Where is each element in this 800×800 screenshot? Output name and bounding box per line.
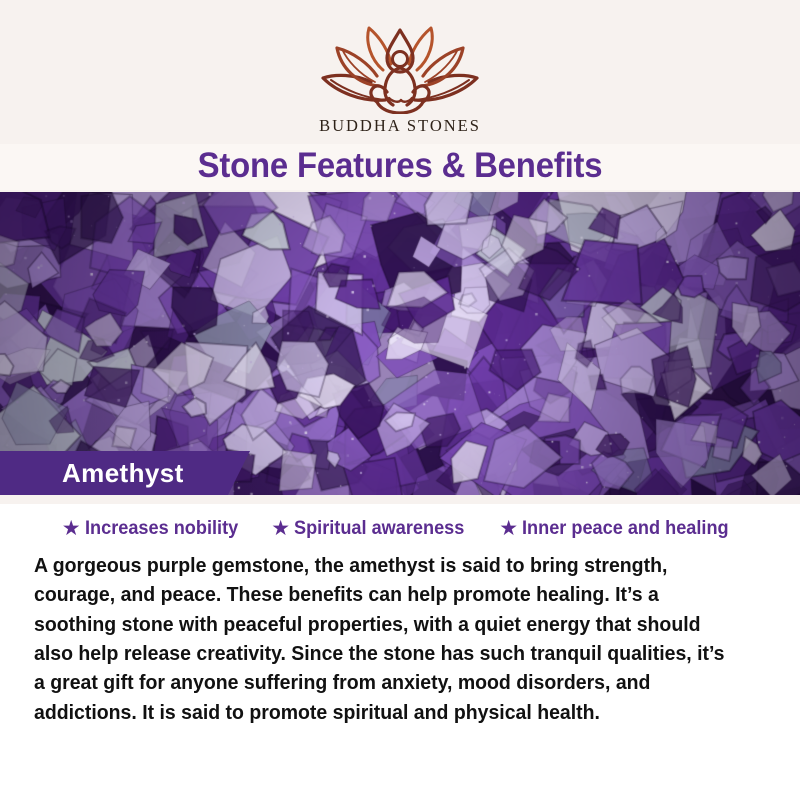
stone-benefits-poster: BUDDHA STONES Stone Features & Benefits …	[0, 0, 800, 800]
poster-header: BUDDHA STONES Stone Features & Benefits	[0, 0, 800, 192]
title-strip: Stone Features & Benefits	[0, 144, 800, 190]
hero-image: Amethyst	[0, 192, 800, 495]
feature-item-spiritual-awareness: ★ Spiritual awareness	[271, 517, 477, 540]
star-icon: ★	[271, 518, 290, 539]
amethyst-crystal-cluster-image	[0, 192, 800, 495]
page-title: Stone Features & Benefits	[24, 144, 776, 190]
star-icon: ★	[62, 518, 81, 539]
feature-label: Spiritual awareness	[294, 517, 464, 540]
star-icon: ★	[499, 518, 518, 539]
brand-name: BUDDHA STONES	[315, 116, 485, 136]
stone-name-ribbon: Amethyst	[0, 451, 250, 495]
feature-label: Inner peace and healing	[522, 517, 729, 540]
poster-content: ★ Increases nobility ★ Spiritual awarene…	[0, 495, 800, 800]
brand-logo: BUDDHA STONES	[315, 22, 485, 136]
stone-name-label: Amethyst	[0, 458, 184, 489]
feature-item-inner-peace-and-healing: ★ Inner peace and healing	[499, 517, 744, 540]
content-top-spacer	[0, 495, 800, 504]
stone-description: A gorgeous purple gemstone, the amethyst…	[34, 551, 735, 727]
feature-label: Increases nobility	[85, 517, 238, 540]
lotus-meditation-figure-icon	[315, 22, 485, 114]
feature-item-increases-nobility: ★ Increases nobility	[62, 517, 250, 540]
